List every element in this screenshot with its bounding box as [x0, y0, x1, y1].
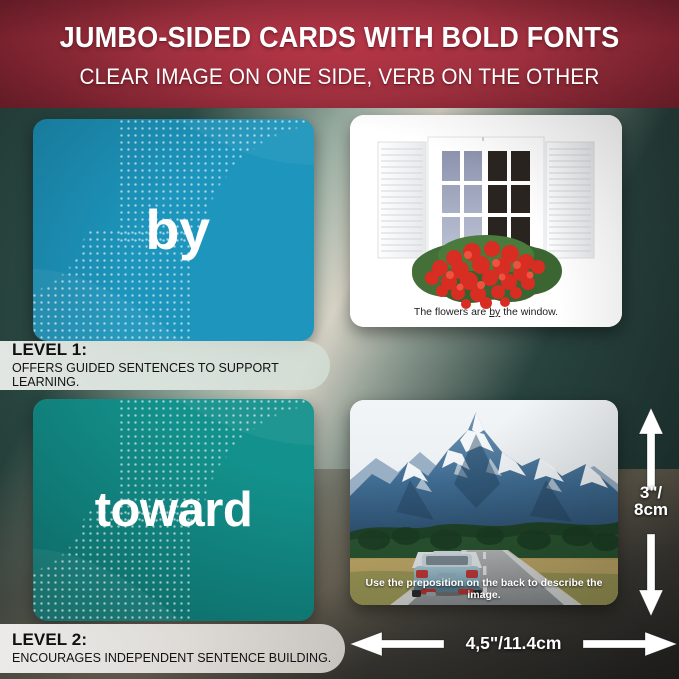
height-dimension-label: 3"/ 8cm — [629, 484, 673, 519]
word-card-by: by — [33, 119, 314, 341]
level-2-callout: LEVEL 2: ENCOURAGES INDEPENDENT SENTENCE… — [0, 624, 345, 673]
photo-card-mountain: Use the preposition on the back to descr… — [350, 400, 618, 605]
caption-text-before: The flowers are — [414, 306, 489, 318]
width-dimension-arrow: 4,5"/11.4cm — [348, 627, 679, 661]
banner-subtitle: CLEAR IMAGE ON ONE SIDE, VERB ON THE OTH… — [20, 64, 658, 90]
height-value-line-2: 8cm — [629, 501, 673, 518]
height-value-line-1: 3"/ — [629, 484, 673, 501]
header-banner: JUMBO-SIDED CARDS WITH BOLD FONTS CLEAR … — [0, 0, 679, 108]
window-with-flowers-illustration — [350, 115, 622, 327]
level-1-description: OFFERS GUIDED SENTENCES TO SUPPORT LEARN… — [12, 361, 330, 390]
mountain-card-caption: Use the preposition on the back to descr… — [350, 577, 618, 601]
word-card-toward: toward — [33, 399, 314, 621]
word-card-label: by — [145, 202, 209, 258]
mountain-road-illustration — [350, 400, 618, 605]
word-card-label: toward — [95, 486, 253, 535]
window-card-caption: The flowers are by the window. — [350, 306, 622, 318]
infographic-canvas: JUMBO-SIDED CARDS WITH BOLD FONTS CLEAR … — [0, 0, 679, 679]
level-1-title: LEVEL 1: — [12, 341, 330, 359]
width-dimension-label: 4,5"/11.4cm — [348, 633, 679, 654]
level-1-callout: LEVEL 1: OFFERS GUIDED SENTENCES TO SUPP… — [0, 341, 330, 390]
caption-keyword: by — [489, 306, 500, 318]
caption-text-after: the window. — [500, 306, 558, 318]
banner-title: JUMBO-SIDED CARDS WITH BOLD FONTS — [17, 22, 662, 55]
height-dimension-arrow: 3"/ 8cm — [629, 406, 673, 618]
level-2-description: ENCOURAGES INDEPENDENT SENTENCE BUILDING… — [12, 651, 345, 665]
photo-card-window: The flowers are by the window. — [350, 115, 622, 327]
level-2-title: LEVEL 2: — [12, 631, 345, 649]
